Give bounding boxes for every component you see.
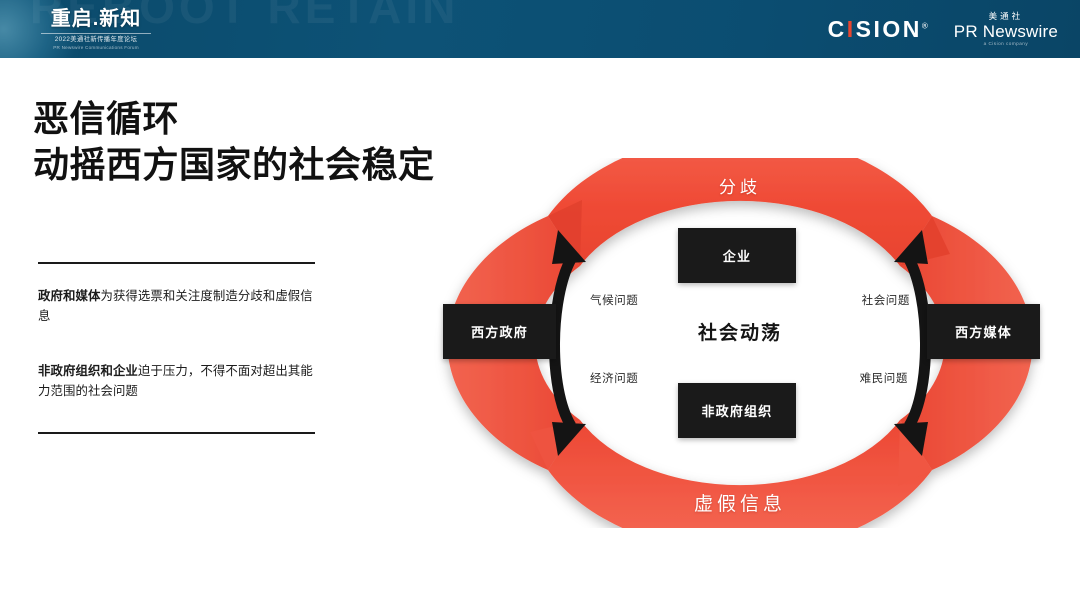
forum-logo-subtitle-cn: 2022美通社新传播年度论坛 [36,36,156,45]
note-item-1-lead: 政府和媒体 [38,289,100,303]
forum-logo-subtitle-en: PR Newswire Communications Forum [36,45,156,51]
header-bar: REBOOT RETAIN 重启.新知 2022美通社新传播年度论坛 PR Ne… [0,0,1080,58]
page-title-line2: 动摇西方国家的社会稳定 [33,142,435,188]
cision-logo-part2: SION [856,16,922,42]
issue-label-social: 社会问题 [862,292,910,308]
slide: REBOOT RETAIN 重启.新知 2022美通社新传播年度论坛 PR Ne… [0,0,1080,601]
note-item-2-lead: 非政府组织和企业 [38,364,138,378]
cision-logo-part1: C [828,16,847,42]
notes-divider-bottom [38,432,315,434]
issue-label-economy: 经济问题 [590,370,638,386]
node-ngo[interactable]: 非政府组织 [678,383,796,438]
note-item-1: 政府和媒体为获得选票和关注度制造分歧和虚假信息 [38,286,315,327]
node-enterprise[interactable]: 企业 [678,228,796,283]
issue-label-refugee: 难民问题 [860,370,908,386]
note-item-2: 非政府组织和企业迫于压力，不得不面对超出其能力范围的社会问题 [38,361,315,402]
cision-logo-accent-i: I [847,16,856,42]
trademark-icon: ® [922,21,928,30]
notes-divider-top [38,262,315,264]
page-title-line1: 恶信循环 [33,98,179,139]
notes-block: 政府和媒体为获得选票和关注度制造分歧和虚假信息 非政府组织和企业迫于压力，不得不… [38,262,315,434]
forum-logo-divider [41,33,151,34]
prnewswire-logo-en: PR Newswire [954,23,1058,40]
ring-label-divergence: 分歧 [430,173,1050,198]
page-title: 恶信循环 动摇西方国家的社会稳定 [33,96,435,188]
issue-label-climate: 气候问题 [590,292,638,308]
prnewswire-logo-cn: 美通社 [954,12,1058,21]
ring-label-disinformation: 虚假信息 [430,489,1050,516]
cision-logo: CISION® [828,18,928,41]
center-label-social-unrest: 社会动荡 [430,318,1050,345]
forum-logo: 重启.新知 2022美通社新传播年度论坛 PR Newswire Communi… [36,9,156,51]
cycle-diagram: 分歧 虚假信息 西方政府 西方媒体 企业 非政府组织 社会动荡 气候问题 社会问… [430,158,1050,528]
prnewswire-logo: 美通社 PR Newswire a Cision company [954,12,1058,46]
prnewswire-tagline: a Cision company [954,42,1058,47]
forum-logo-title: 重启.新知 [36,9,156,30]
brand-lockup: CISION® 美通社 PR Newswire a Cision company [828,12,1058,46]
